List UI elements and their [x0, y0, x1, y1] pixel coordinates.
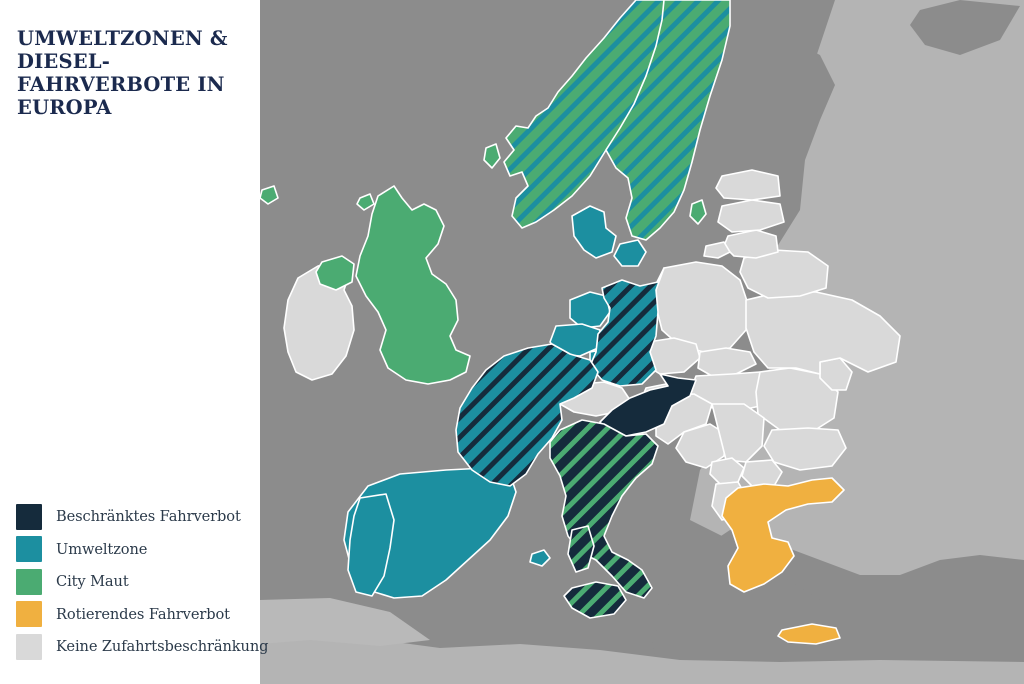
legend-label-environmental-zone: Umweltzone	[56, 541, 147, 558]
legend-swatch-restricted-driving-ban	[16, 504, 42, 530]
legend-swatch-environmental-zone	[16, 536, 42, 562]
legend: Beschränktes Fahrverbot Umweltzone City …	[16, 503, 260, 666]
left-info-panel: UMWELTZONEN & DIESEL-FAHRVERBOTE IN EURO…	[0, 0, 260, 684]
page-title: UMWELTZONEN & DIESEL-FAHRVERBOTE IN EURO…	[17, 27, 257, 119]
map-svg	[260, 0, 1024, 684]
legend-label-city-toll: City Maut	[56, 573, 129, 590]
infographic-root: UMWELTZONEN & DIESEL-FAHRVERBOTE IN EURO…	[0, 0, 1024, 684]
legend-item-restricted-driving-ban[interactable]: Beschränktes Fahrverbot	[16, 503, 260, 530]
legend-label-no-access-restriction: Keine Zufahrtsbeschränkung	[56, 638, 268, 655]
legend-item-environmental-zone[interactable]: Umweltzone	[16, 536, 260, 563]
legend-item-no-access-restriction[interactable]: Keine Zufahrtsbeschränkung	[16, 633, 260, 660]
europe-map[interactable]	[260, 0, 1024, 684]
legend-swatch-city-toll	[16, 569, 42, 595]
legend-swatch-rotating-driving-ban	[16, 601, 42, 627]
legend-item-rotating-driving-ban[interactable]: Rotierendes Fahrverbot	[16, 601, 260, 628]
country-north-macedonia	[742, 460, 782, 486]
legend-label-rotating-driving-ban: Rotierendes Fahrverbot	[56, 606, 230, 623]
legend-swatch-no-access-restriction	[16, 634, 42, 660]
legend-item-city-toll[interactable]: City Maut	[16, 568, 260, 595]
legend-label-restricted-driving-ban: Beschränktes Fahrverbot	[56, 508, 241, 525]
country-estonia	[716, 170, 780, 200]
